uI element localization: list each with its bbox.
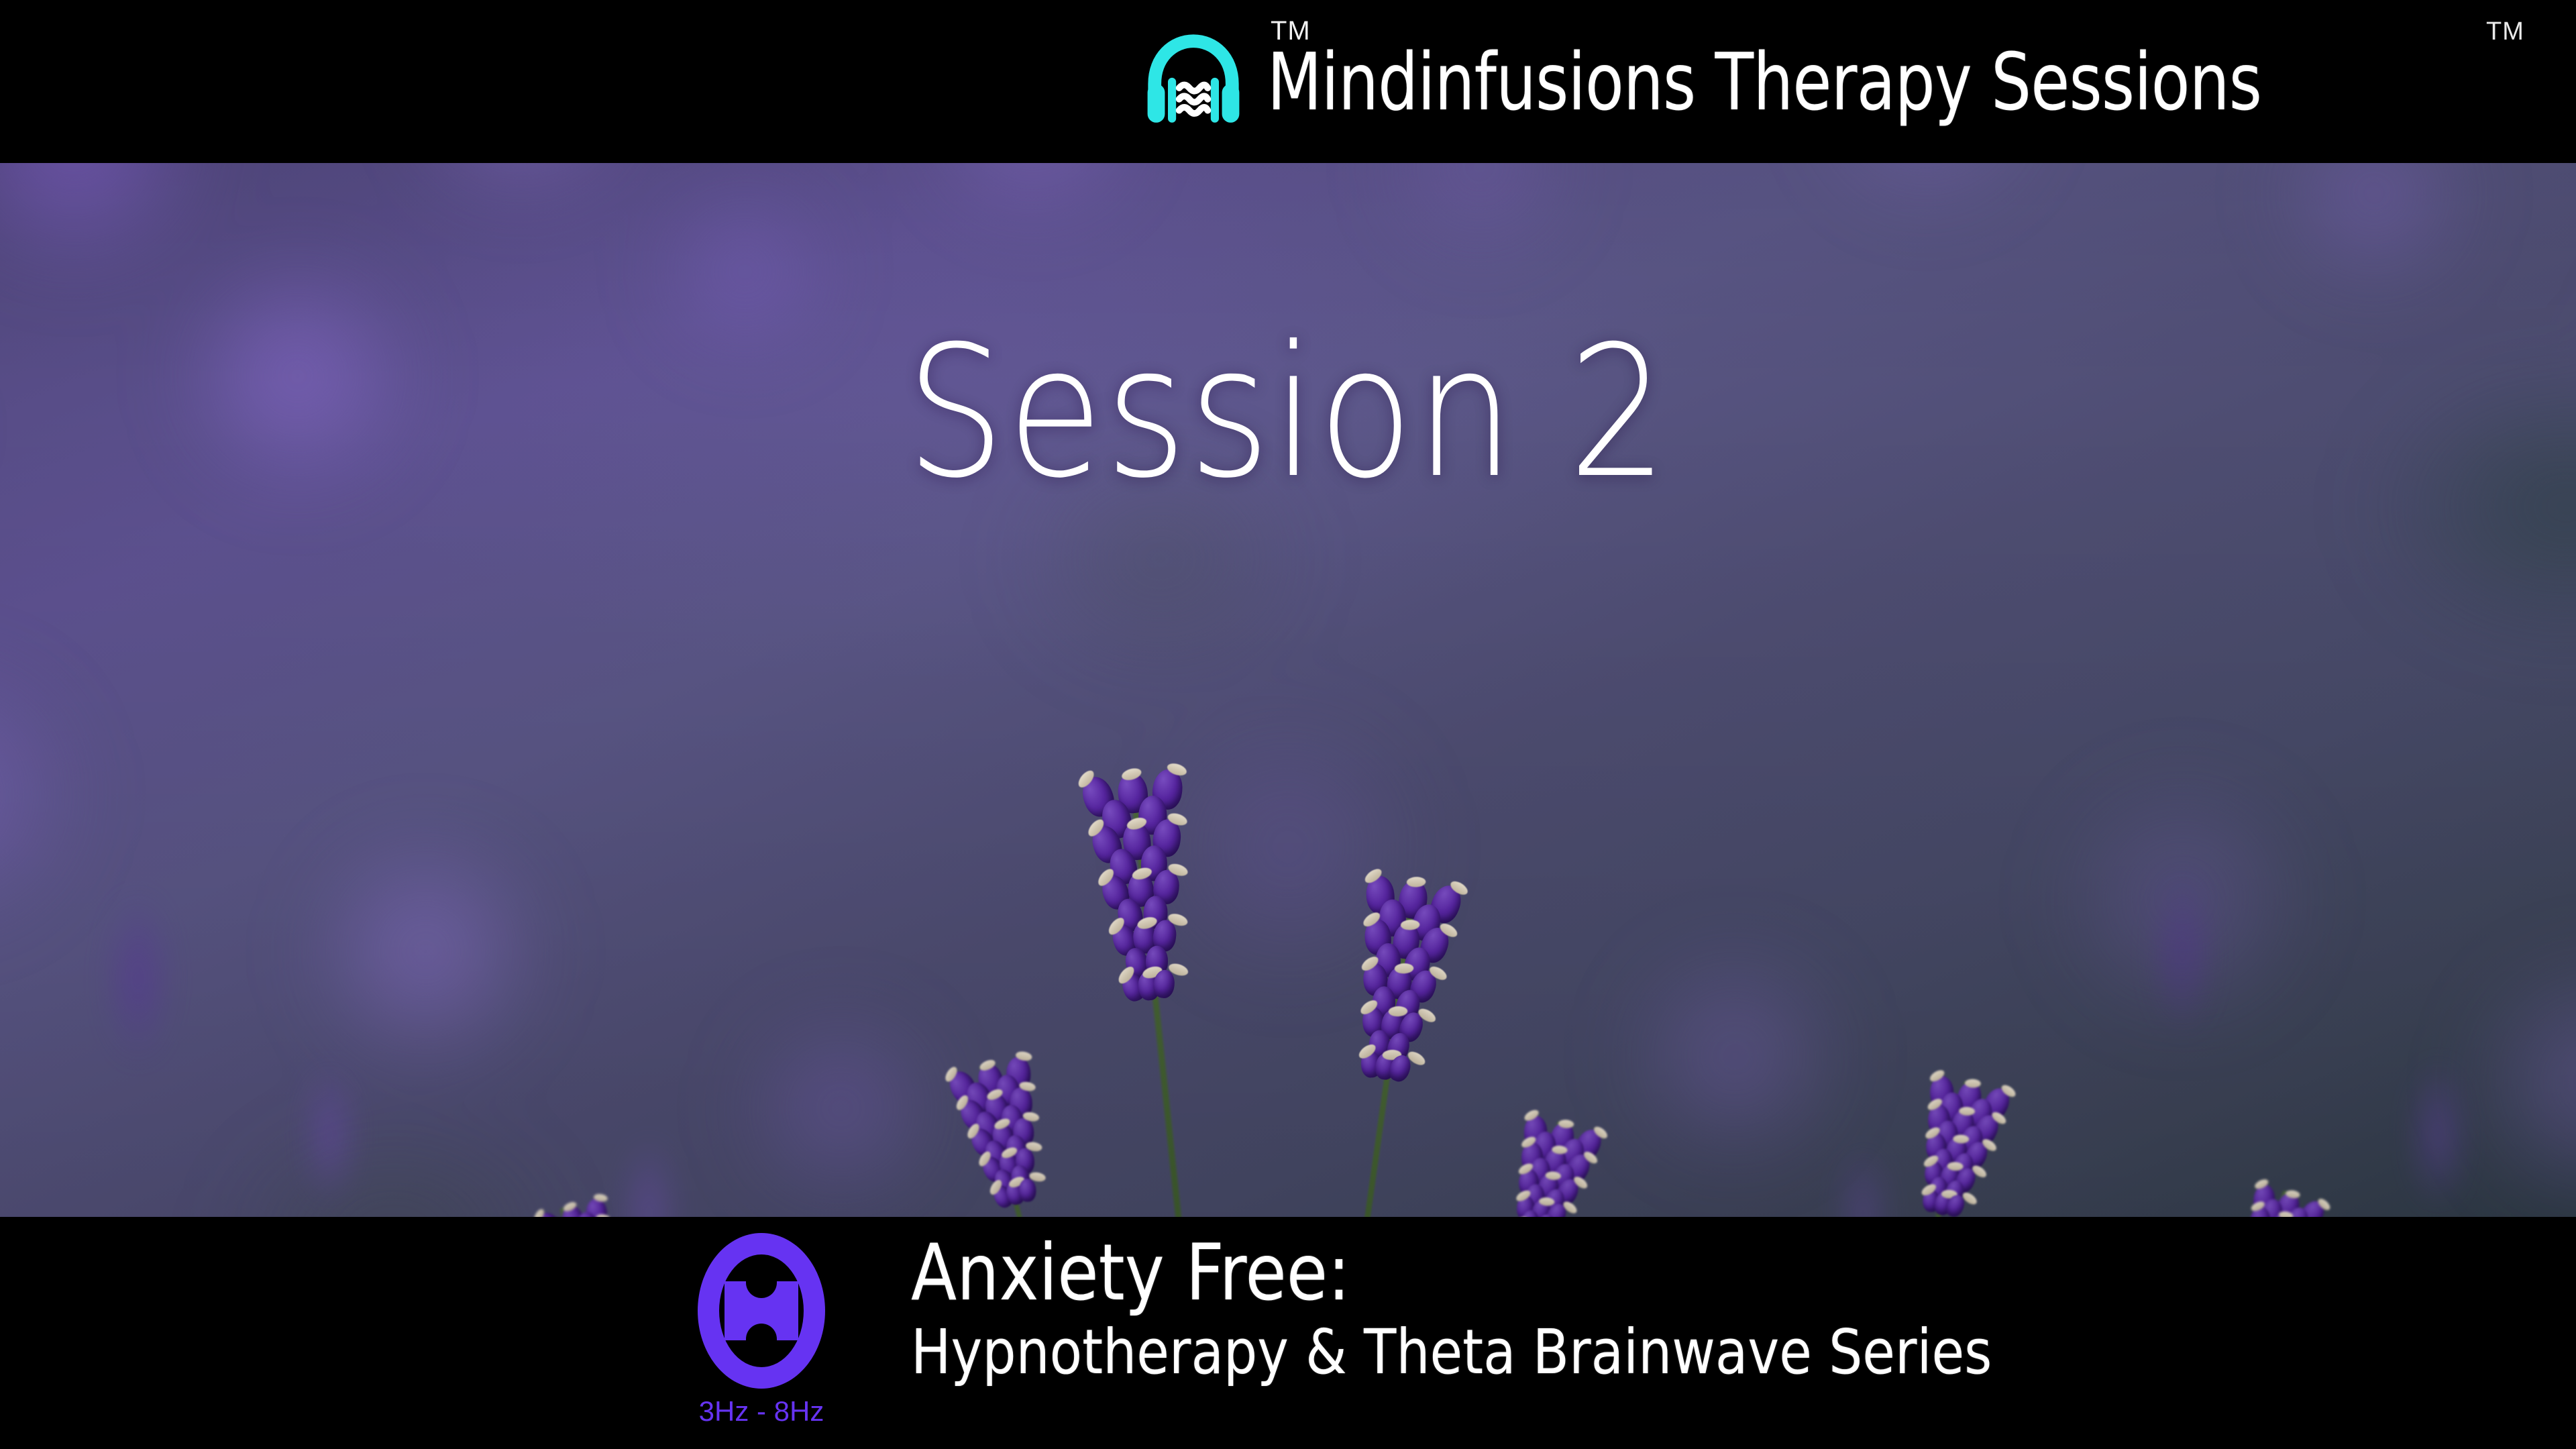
- lavender-spike: [542, 1203, 637, 1217]
- spike-head: [1914, 1075, 1992, 1216]
- trademark-right-mark: TM: [2486, 17, 2524, 46]
- spike-head: [542, 1203, 606, 1217]
- brand-header-bar: Mindinfusions Therapy Sessions TM TM: [0, 0, 2576, 163]
- brand-title: Mindinfusions Therapy Sessions: [1267, 42, 2261, 121]
- spike-head: [1350, 875, 1450, 1089]
- session-title: Session 2: [0, 322, 2576, 503]
- footer-text-block: Anxiety Free: Hypnotherapy & Theta Brain…: [911, 1234, 2168, 1383]
- lavender-floret: [1019, 1179, 1036, 1202]
- spike-head: [955, 1059, 1042, 1210]
- frequency-range-label: 3Hz - 8Hz: [671, 1395, 852, 1428]
- footer-subtitle: Hypnotherapy & Theta Brainwave Series: [911, 1322, 1992, 1383]
- theta-frequency-badge: 3Hz - 8Hz: [671, 1233, 852, 1434]
- lavender-bract: [1953, 1134, 1969, 1144]
- session-title-text: Session 2: [906, 322, 1670, 503]
- lavender-bract: [1958, 1106, 1974, 1116]
- spike-head: [1091, 769, 1196, 1010]
- spike-head: [1506, 1116, 1584, 1217]
- lavender-spike: [955, 1059, 1082, 1217]
- footer-title: Anxiety Free:: [911, 1234, 1992, 1312]
- spike-head: [2233, 1184, 2305, 1217]
- lavender-spike: [2196, 1184, 2306, 1217]
- headphones-wave-icon: [1142, 31, 1244, 133]
- brand-header-content: Mindinfusions Therapy Sessions: [1142, 0, 2510, 163]
- lavender-spike: [1091, 769, 1225, 1217]
- lavender-spike: [1316, 875, 1450, 1217]
- trademark-logo-mark: TM: [1271, 16, 1311, 46]
- theta-symbol-icon: [698, 1233, 825, 1389]
- theta-crossbar: [724, 1281, 798, 1340]
- lavender-spike: [1470, 1116, 1584, 1217]
- video-thumbnail-canvas: Session 2 Mindinfusions Therapy Sessions…: [0, 0, 2576, 1449]
- lavender-spike: [1881, 1075, 1992, 1217]
